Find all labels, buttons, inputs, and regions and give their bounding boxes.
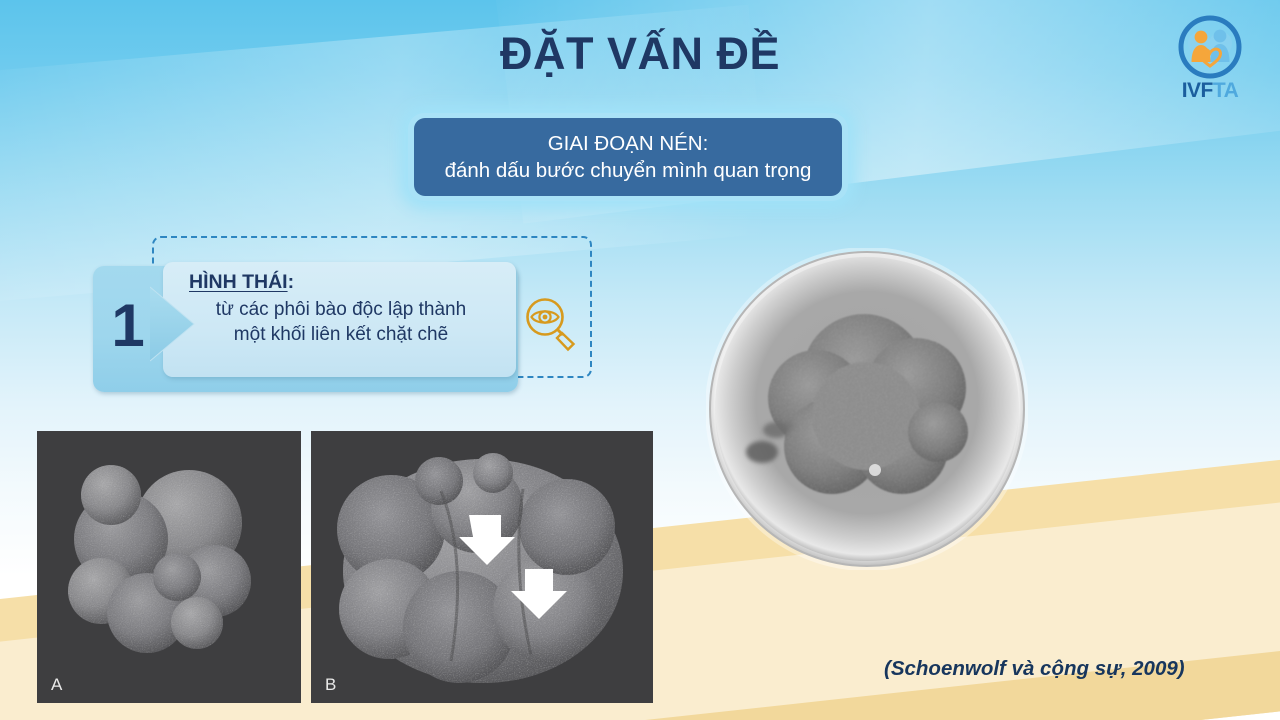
sem-panel-b-label: B [325,675,336,695]
point-text-block: HÌNH THÁI: từ các phôi bào độc lập thành… [175,268,507,372]
point-heading: HÌNH THÁI: [189,271,507,294]
sem-figure: A [37,431,653,703]
eye-magnifier-icon [524,296,576,352]
ivfta-logo-icon [1162,14,1258,82]
ivfta-logo: IVFTA [1162,14,1258,110]
sem-panel-a: A [37,431,301,703]
sem-panel-b: B [311,431,653,703]
point-body-line-1: từ các phôi bào độc lập thành [175,297,507,322]
figure-citation: (Schoenwolf và cộng sự, 2009) [884,657,1185,681]
point-number: 1 [100,286,156,366]
sem-panel-a-label: A [51,675,62,695]
point-body-line-2: một khối liên kết chặt chẽ [175,322,507,347]
slide-canvas: ĐẶT VẤN ĐỀ IVFTA GIAI ĐOẠN NÉN: đánh dấu… [0,0,1280,720]
point-heading-underlined: HÌNH THÁI [189,271,288,293]
logo-text-ivf: IVF [1182,79,1213,102]
banner-line-1: GIAI ĐOẠN NÉN: [548,130,709,157]
point-body: từ các phôi bào độc lập thành một khối l… [175,297,507,347]
embryo-microscopy-photo [706,248,1028,570]
page-title: ĐẶT VẤN ĐỀ [0,28,1280,80]
section-banner: GIAI ĐOẠN NÉN: đánh dấu bước chuyển mình… [414,118,842,196]
point-heading-colon: : [288,271,295,293]
banner-line-2: đánh dấu bước chuyển mình quan trọng [445,157,812,184]
ivfta-logo-wordmark: IVFTA [1162,80,1258,101]
logo-text-ta: TA [1213,79,1238,102]
